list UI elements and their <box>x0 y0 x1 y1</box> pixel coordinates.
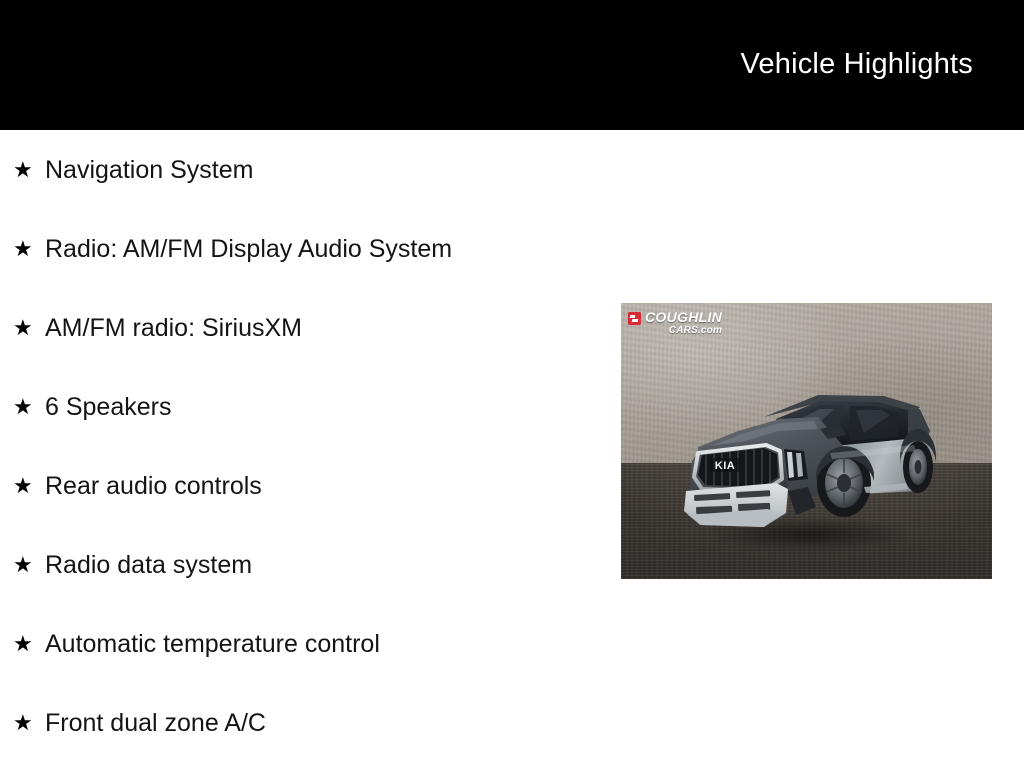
watermark-secondary-text: CARS.com <box>669 326 722 336</box>
list-item: ★ Automatic temperature control <box>0 604 600 683</box>
list-item-label: Front dual zone A/C <box>45 708 600 738</box>
list-item: ★ 6 Speakers <box>0 367 600 446</box>
list-item: ★ Front dual zone A/C <box>0 683 600 762</box>
list-item-label: 6 Speakers <box>45 392 600 422</box>
list-item: ★ Navigation System <box>0 130 600 209</box>
list-item: ★ Rear audio controls <box>0 446 600 525</box>
star-bullet-icon: ★ <box>13 633 45 655</box>
list-item: ★ Radio data system <box>0 525 600 604</box>
svg-text:KIA: KIA <box>715 460 735 472</box>
watermark-primary-text: COUGHLIN <box>645 310 722 324</box>
star-bullet-icon: ★ <box>13 396 45 418</box>
vehicle-photo: COUGHLIN CARS.com <box>621 303 992 579</box>
page-title: Vehicle Highlights <box>740 47 973 81</box>
header-bar: Vehicle Highlights <box>0 0 1024 130</box>
star-bullet-icon: ★ <box>13 475 45 497</box>
star-bullet-icon: ★ <box>13 317 45 339</box>
star-bullet-icon: ★ <box>13 238 45 260</box>
star-bullet-icon: ★ <box>13 159 45 181</box>
list-item-label: Radio data system <box>45 550 600 580</box>
list-item-label: Radio: AM/FM Display Audio System <box>45 234 600 264</box>
suv-illustration: KIA <box>668 355 968 545</box>
coughlin-logo-icon <box>628 312 641 325</box>
star-bullet-icon: ★ <box>13 712 45 734</box>
star-bullet-icon: ★ <box>13 554 45 576</box>
list-item: ★ Radio: AM/FM Display Audio System <box>0 209 600 288</box>
list-item-label: Automatic temperature control <box>45 629 600 659</box>
list-item-label: AM/FM radio: SiriusXM <box>45 313 600 343</box>
vehicle-highlights-list: ★ Navigation System ★ Radio: AM/FM Displ… <box>0 130 600 762</box>
list-item: ★ AM/FM radio: SiriusXM <box>0 288 600 367</box>
list-item-label: Rear audio controls <box>45 471 600 501</box>
dealer-watermark: COUGHLIN CARS.com <box>628 310 722 336</box>
list-item-label: Navigation System <box>45 155 600 185</box>
